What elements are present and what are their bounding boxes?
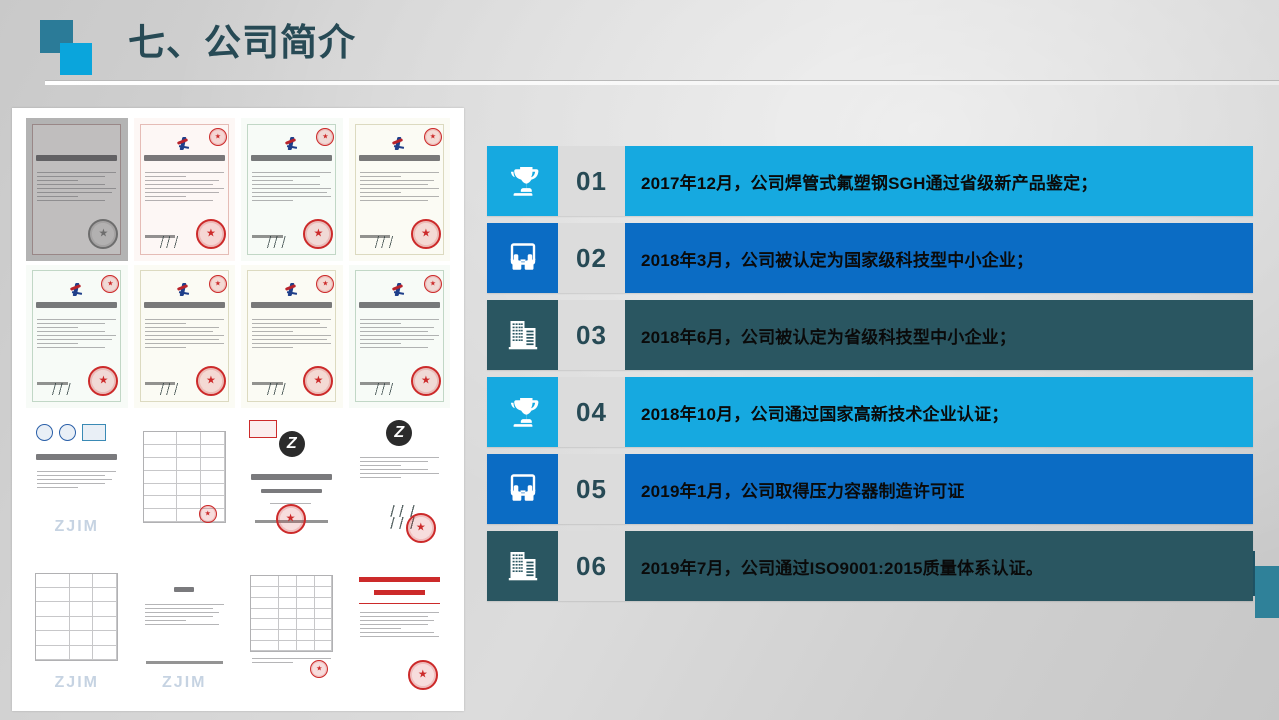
z-brand-icon: Z bbox=[279, 431, 305, 457]
seal-icon bbox=[411, 366, 441, 396]
certificate-thumb[interactable] bbox=[349, 118, 451, 261]
milestone-text: 2019年7月，公司通过ISO9001:2015质量体系认证。 bbox=[625, 531, 1253, 601]
milestone-text: 2017年12月，公司焊管式氟塑钢SGH通过省级新产品鉴定； bbox=[625, 146, 1253, 216]
certificate-thumb[interactable] bbox=[26, 265, 128, 408]
data-table bbox=[35, 573, 118, 662]
certificate-text-lines bbox=[360, 457, 439, 508]
footer-block bbox=[146, 661, 223, 664]
milestone-row[interactable]: 03 2018年6月，公司被认定为省级科技型中小企业； bbox=[487, 300, 1253, 370]
watermark-logo: ZJIM bbox=[55, 518, 99, 536]
certificate-thumb[interactable]: ZJIM bbox=[134, 558, 236, 701]
national-emblem-icon bbox=[176, 283, 192, 299]
national-emblem-icon bbox=[284, 283, 300, 299]
signature-icon bbox=[160, 236, 188, 248]
certificate-subtitle-bar bbox=[374, 590, 425, 595]
certificate-thumb[interactable] bbox=[134, 412, 236, 555]
certificate-thumb[interactable] bbox=[241, 118, 343, 261]
certificate-text-lines bbox=[145, 604, 224, 650]
seal-icon bbox=[276, 504, 306, 534]
certificate-thumb[interactable] bbox=[26, 118, 128, 261]
seal-icon bbox=[406, 513, 436, 543]
national-emblem-icon bbox=[391, 137, 407, 153]
milestone-row[interactable]: 01 2017年12月，公司焊管式氟塑钢SGH通过省级新产品鉴定； bbox=[487, 146, 1253, 216]
data-table bbox=[250, 575, 333, 652]
certificate-thumb[interactable]: Z bbox=[349, 412, 451, 555]
certificate-thumb[interactable] bbox=[241, 558, 343, 701]
page-title: 七、公司简介 bbox=[128, 14, 356, 72]
milestone-number: 03 bbox=[558, 300, 625, 370]
certificate-title-bar bbox=[359, 577, 440, 582]
certificate-title-bar bbox=[251, 302, 332, 308]
certificate-thumb[interactable]: Z bbox=[241, 412, 343, 555]
certificate-title-bar bbox=[36, 454, 117, 460]
seal-icon bbox=[408, 660, 438, 690]
signature-icon bbox=[375, 236, 403, 248]
seal-icon bbox=[424, 128, 442, 146]
milestone-number: 02 bbox=[558, 223, 625, 293]
seal-icon bbox=[209, 275, 227, 293]
decor-square-cyan-icon bbox=[60, 43, 92, 75]
milestone-row[interactable]: 06 2019年7月，公司通过ISO9001:2015质量体系认证。 bbox=[487, 531, 1253, 601]
milestone-text: 2018年6月，公司被认定为省级科技型中小企业； bbox=[625, 300, 1253, 370]
certificate-subtitle-bar bbox=[261, 489, 322, 493]
certificates-panel: ZJIM Z bbox=[12, 108, 464, 711]
milestone-number: 05 bbox=[558, 454, 625, 524]
seal-icon bbox=[310, 660, 328, 678]
hands-tablet-icon bbox=[487, 223, 558, 293]
signature-icon bbox=[267, 236, 295, 248]
certificate-title-bar bbox=[174, 587, 194, 592]
slide-header: 七、公司简介 bbox=[0, 0, 1279, 96]
trophy-icon bbox=[487, 146, 558, 216]
seal-icon bbox=[209, 128, 227, 146]
certificate-title-bar bbox=[144, 155, 225, 161]
milestone-text: 2018年3月，公司被认定为国家级科技型中小企业； bbox=[625, 223, 1253, 293]
slide: 七、公司简介 bbox=[0, 0, 1279, 720]
trophy-icon bbox=[487, 377, 558, 447]
certificate-thumb[interactable] bbox=[134, 265, 236, 408]
signature-icon bbox=[267, 383, 295, 395]
certificate-thumb[interactable] bbox=[241, 265, 343, 408]
watermark-logo: ZJIM bbox=[162, 674, 206, 692]
certificate-title-bar bbox=[36, 302, 117, 308]
hands-tablet-icon bbox=[487, 454, 558, 524]
watermark-logo: ZJIM bbox=[55, 674, 99, 692]
national-emblem-icon bbox=[284, 137, 300, 153]
certificate-thumb[interactable] bbox=[134, 118, 236, 261]
certificate-thumb[interactable] bbox=[349, 558, 451, 701]
certificate-thumb[interactable] bbox=[349, 265, 451, 408]
milestone-number: 04 bbox=[558, 377, 625, 447]
certificate-title-bar bbox=[359, 302, 440, 308]
dnv-mark-icon bbox=[249, 420, 277, 438]
certificates-grid: ZJIM Z bbox=[26, 118, 450, 701]
signature-icon bbox=[52, 383, 80, 395]
milestone-row[interactable]: 04 2018年10月，公司通过国家高新技术企业认证； bbox=[487, 377, 1253, 447]
title-divider bbox=[45, 80, 1279, 85]
milestone-text: 2018年10月，公司通过国家高新技术企业认证； bbox=[625, 377, 1253, 447]
milestone-number: 06 bbox=[558, 531, 625, 601]
certificate-title-bar bbox=[144, 302, 225, 308]
accreditation-marks-icon bbox=[36, 424, 106, 441]
national-emblem-icon bbox=[69, 283, 85, 299]
building-icon bbox=[487, 531, 558, 601]
certificate-thumb[interactable]: ZJIM bbox=[26, 412, 128, 555]
milestone-text: 2019年1月，公司取得压力容器制造许可证 bbox=[625, 454, 1253, 524]
certificate-text-lines bbox=[360, 612, 439, 661]
certificate-thumb[interactable]: ZJIM bbox=[26, 558, 128, 701]
edge-accent-outer bbox=[1255, 566, 1279, 618]
milestones-list: 01 2017年12月，公司焊管式氟塑钢SGH通过省级新产品鉴定； 02 201… bbox=[487, 146, 1253, 608]
milestone-row[interactable]: 02 2018年3月，公司被认定为国家级科技型中小企业； bbox=[487, 223, 1253, 293]
z-brand-icon: Z bbox=[386, 420, 412, 446]
national-emblem-icon bbox=[391, 283, 407, 299]
building-icon bbox=[487, 300, 558, 370]
seal-icon bbox=[196, 366, 226, 396]
certificate-title-bar bbox=[251, 474, 332, 480]
seal-icon bbox=[199, 505, 217, 523]
signature-icon bbox=[160, 383, 188, 395]
seal-icon bbox=[424, 275, 442, 293]
signature-icon bbox=[375, 383, 403, 395]
certificate-rule bbox=[359, 603, 440, 604]
national-emblem-icon bbox=[176, 137, 192, 153]
certificate-text-lines bbox=[37, 471, 116, 514]
milestone-number: 01 bbox=[558, 146, 625, 216]
certificate-title-bar bbox=[36, 155, 117, 161]
certificate-title-bar bbox=[359, 155, 440, 161]
milestone-row[interactable]: 05 2019年1月，公司取得压力容器制造许可证 bbox=[487, 454, 1253, 524]
certificate-title-bar bbox=[251, 155, 332, 161]
